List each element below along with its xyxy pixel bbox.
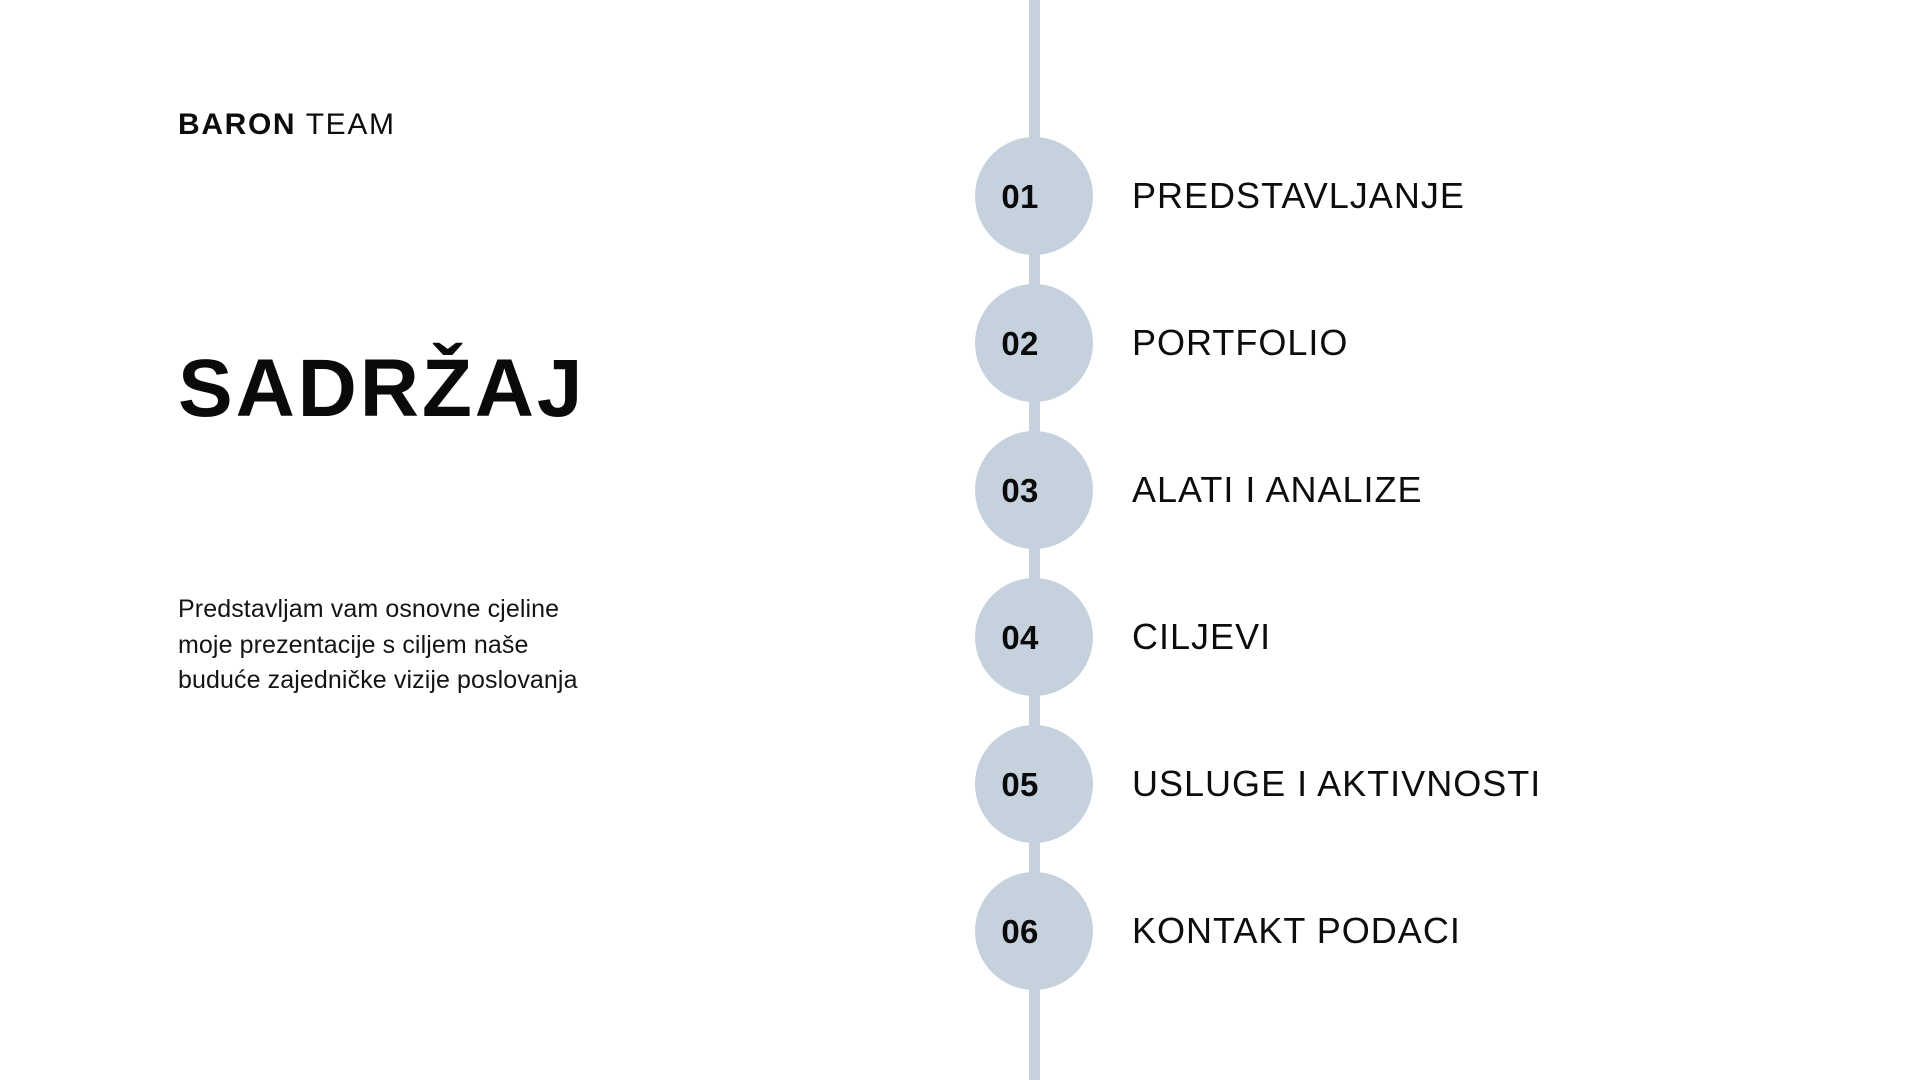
- agenda-number-05: 05: [1001, 768, 1038, 801]
- agenda-number-04: 04: [1001, 621, 1038, 654]
- agenda-item-list: 01 PREDSTAVLJANJE 02 PORTFOLIO 03 ALATI …: [975, 0, 1920, 1080]
- intro-paragraph-line-3: buduće zajedničke vizije poslovanja: [178, 663, 778, 699]
- intro-paragraph-line-2: moje prezentacije s ciljem naše: [178, 628, 778, 664]
- agenda-number-06: 06: [1001, 915, 1038, 948]
- agenda-timeline: 01 PREDSTAVLJANJE 02 PORTFOLIO 03 ALATI …: [975, 0, 1920, 1080]
- agenda-label-02: PORTFOLIO: [1132, 325, 1348, 361]
- agenda-label-01: PREDSTAVLJANJE: [1132, 178, 1465, 214]
- agenda-label-03: ALATI I ANALIZE: [1132, 472, 1423, 508]
- left-column: BARON TEAM SADRŽAJ Predstavljam vam osno…: [178, 0, 918, 1080]
- agenda-badge-03: 03: [975, 431, 1093, 549]
- agenda-number-01: 01: [1001, 180, 1038, 213]
- page-title: SADRŽAJ: [178, 348, 585, 430]
- agenda-label-05: USLUGE I AKTIVNOSTI: [1132, 766, 1541, 802]
- agenda-number-02: 02: [1001, 327, 1038, 360]
- agenda-label-04: CILJEVI: [1132, 619, 1271, 655]
- brand-name-secondary: TEAM: [296, 108, 395, 141]
- slide-canvas: BARON TEAM SADRŽAJ Predstavljam vam osno…: [0, 0, 1920, 1080]
- agenda-badge-02: 02: [975, 284, 1093, 402]
- agenda-number-03: 03: [1001, 474, 1038, 507]
- agenda-badge-06: 06: [975, 872, 1093, 990]
- agenda-item-01[interactable]: 01 PREDSTAVLJANJE: [975, 137, 1920, 255]
- agenda-item-02[interactable]: 02 PORTFOLIO: [975, 284, 1920, 402]
- agenda-item-04[interactable]: 04 CILJEVI: [975, 578, 1920, 696]
- intro-paragraph-line-1: Predstavljam vam osnovne cjeline: [178, 592, 778, 628]
- brand-name-primary: BARON: [178, 108, 296, 141]
- agenda-item-05[interactable]: 05 USLUGE I AKTIVNOSTI: [975, 725, 1920, 843]
- agenda-item-03[interactable]: 03 ALATI I ANALIZE: [975, 431, 1920, 549]
- agenda-item-06[interactable]: 06 KONTAKT PODACI: [975, 872, 1920, 990]
- agenda-badge-04: 04: [975, 578, 1093, 696]
- agenda-badge-05: 05: [975, 725, 1093, 843]
- brand-logo: BARON TEAM: [178, 110, 396, 140]
- agenda-label-06: KONTAKT PODACI: [1132, 913, 1461, 949]
- agenda-badge-01: 01: [975, 137, 1093, 255]
- intro-paragraph: Predstavljam vam osnovne cjeline moje pr…: [178, 592, 778, 699]
